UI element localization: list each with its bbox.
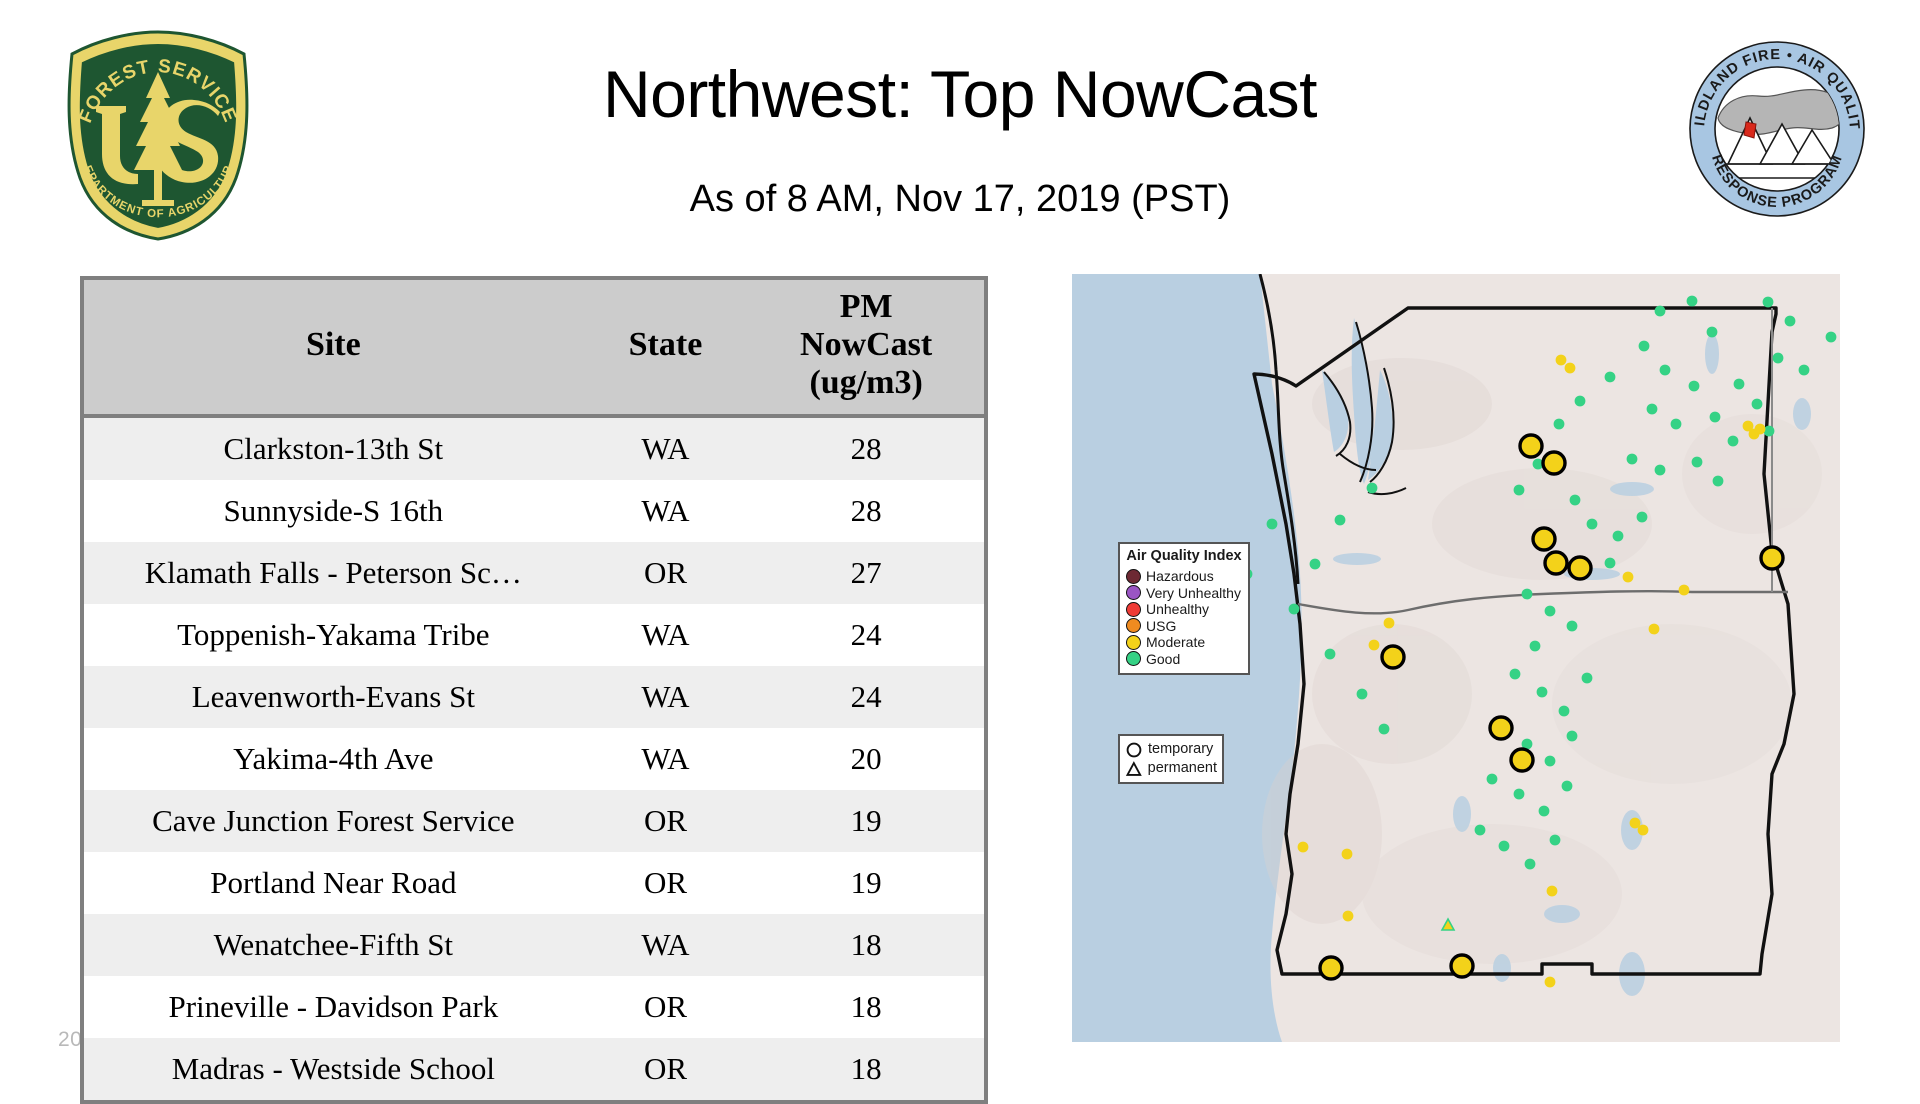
cell-site: Prineville - Davidson Park: [84, 976, 583, 1038]
legend-item-label: USG: [1146, 619, 1176, 633]
monitor-marker-good[interactable]: [1692, 457, 1703, 468]
monitor-marker-good[interactable]: [1587, 519, 1598, 530]
monitor-marker-good[interactable]: [1325, 649, 1336, 660]
monitor-marker-moderate[interactable]: [1755, 424, 1766, 435]
monitor-marker-moderate[interactable]: [1298, 842, 1309, 853]
monitor-marker-good[interactable]: [1728, 436, 1739, 447]
monitor-marker-good[interactable]: [1734, 379, 1745, 390]
cell-pm-nowcast: 27: [748, 542, 984, 604]
cell-site: Klamath Falls - Peterson Sc…: [84, 542, 583, 604]
table-body: Clarkston-13th StWA28Sunnyside-S 16thWA2…: [84, 416, 984, 1100]
monitor-marker-good[interactable]: [1537, 687, 1548, 698]
monitor-marker-moderate[interactable]: [1369, 640, 1380, 651]
column-header-pm-nowcast: PM NowCast (ug/m3): [748, 280, 984, 416]
monitor-marker-top-site[interactable]: [1543, 452, 1565, 474]
cell-site: Toppenish-Yakama Tribe: [84, 604, 583, 666]
cell-pm-nowcast: 18: [748, 976, 984, 1038]
legend-row: Good: [1126, 650, 1242, 667]
monitor-marker-moderate[interactable]: [1649, 624, 1660, 635]
monitor-marker-good[interactable]: [1637, 512, 1648, 523]
monitor-marker-moderate[interactable]: [1342, 849, 1353, 860]
monitor-marker-good[interactable]: [1826, 332, 1837, 343]
legend-type-row-temporary: temporary: [1125, 740, 1217, 759]
monitor-marker-good[interactable]: [1510, 669, 1521, 680]
monitor-marker-good[interactable]: [1310, 559, 1321, 570]
legend-item-label: Very Unhealthy: [1146, 586, 1241, 600]
cell-pm-nowcast: 18: [748, 914, 984, 976]
table-row: Madras - Westside SchoolOR18: [84, 1038, 984, 1100]
permanent-triangle-icon: [1125, 760, 1143, 778]
pm-header-line3: (ug/m3): [809, 364, 922, 401]
cell-pm-nowcast: 19: [748, 852, 984, 914]
nowcast-table: Site State PM NowCast (ug/m3) Clarkston-…: [84, 280, 984, 1100]
table-row: Clarkston-13th StWA28: [84, 416, 984, 480]
monitor-marker-good[interactable]: [1379, 724, 1390, 735]
monitor-marker-good[interactable]: [1335, 515, 1346, 526]
monitor-marker-good[interactable]: [1570, 495, 1581, 506]
cell-state: OR: [583, 790, 749, 852]
monitor-marker-top-site[interactable]: [1490, 717, 1512, 739]
legend-title: Air Quality Index: [1126, 549, 1242, 565]
monitor-marker-good[interactable]: [1357, 689, 1368, 700]
cell-state: WA: [583, 728, 749, 790]
legend-color-swatch: [1126, 569, 1141, 584]
legend-row: Unhealthy: [1126, 601, 1242, 618]
monitor-marker-good[interactable]: [1660, 365, 1671, 376]
monitor-marker-good[interactable]: [1475, 825, 1486, 836]
table-row: Cave Junction Forest ServiceOR19: [84, 790, 984, 852]
monitor-marker-good[interactable]: [1522, 589, 1533, 600]
column-header-site: Site: [84, 280, 583, 416]
monitor-marker-good[interactable]: [1639, 341, 1650, 352]
monitor-marker-good[interactable]: [1655, 465, 1666, 476]
monitor-type-legend: temporary permanent: [1118, 734, 1224, 784]
cell-pm-nowcast: 20: [748, 728, 984, 790]
monitor-marker-good[interactable]: [1687, 296, 1698, 307]
legend-item-label: Hazardous: [1146, 569, 1214, 583]
table-row: Prineville - Davidson ParkOR18: [84, 976, 984, 1038]
monitor-marker-moderate[interactable]: [1565, 363, 1576, 374]
pm-header-line2: NowCast: [800, 326, 932, 363]
legend-color-swatch: [1126, 585, 1141, 600]
table-row: Klamath Falls - Peterson Sc…OR27: [84, 542, 984, 604]
monitor-marker-top-site[interactable]: [1761, 547, 1783, 569]
cell-site: Leavenworth-Evans St: [84, 666, 583, 728]
monitor-marker-good[interactable]: [1707, 327, 1718, 338]
cell-state: WA: [583, 480, 749, 542]
nowcast-table-container: Site State PM NowCast (ug/m3) Clarkston-…: [80, 276, 988, 1104]
cell-pm-nowcast: 19: [748, 790, 984, 852]
table-row: Wenatchee-Fifth StWA18: [84, 914, 984, 976]
cell-site: Yakima-4th Ave: [84, 728, 583, 790]
cell-site: Madras - Westside School: [84, 1038, 583, 1100]
legend-type-row-permanent: permanent: [1125, 759, 1217, 778]
monitor-marker-good[interactable]: [1525, 859, 1536, 870]
monitor-marker-good[interactable]: [1567, 731, 1578, 742]
monitor-marker-good[interactable]: [1627, 454, 1638, 465]
table-row: Leavenworth-Evans StWA24: [84, 666, 984, 728]
monitor-marker-moderate[interactable]: [1556, 355, 1567, 366]
legend-row: Very Unhealthy: [1126, 584, 1242, 601]
monitor-marker-moderate[interactable]: [1638, 825, 1649, 836]
monitor-marker-good[interactable]: [1671, 419, 1682, 430]
monitor-marker-top-site[interactable]: [1569, 557, 1591, 579]
monitor-marker-good[interactable]: [1605, 372, 1616, 383]
legend-type-label-temporary: temporary: [1148, 742, 1213, 757]
table-row: Sunnyside-S 16thWA28: [84, 480, 984, 542]
monitor-marker-good[interactable]: [1689, 381, 1700, 392]
monitor-marker-good[interactable]: [1613, 531, 1624, 542]
monitor-marker-top-site[interactable]: [1511, 749, 1533, 771]
monitor-marker-good[interactable]: [1647, 404, 1658, 415]
monitor-marker-good[interactable]: [1559, 706, 1570, 717]
legend-color-swatch: [1126, 602, 1141, 617]
legend-row: Hazardous: [1126, 568, 1242, 585]
table-row: Yakima-4th AveWA20: [84, 728, 984, 790]
monitor-marker-good[interactable]: [1799, 365, 1810, 376]
legend-color-swatch: [1126, 651, 1141, 666]
table-header: Site State PM NowCast (ug/m3): [84, 280, 984, 416]
legend-row: Moderate: [1126, 634, 1242, 651]
monitor-marker-good[interactable]: [1763, 297, 1774, 308]
legend-rows: HazardousVery UnhealthyUnhealthyUSGModer…: [1126, 568, 1242, 667]
monitor-marker-good[interactable]: [1367, 483, 1378, 494]
cell-pm-nowcast: 24: [748, 604, 984, 666]
monitor-marker-top-site[interactable]: [1320, 957, 1342, 979]
monitor-marker-good[interactable]: [1545, 756, 1556, 767]
page-title: Northwest: Top NowCast: [0, 60, 1920, 129]
legend-color-swatch: [1126, 635, 1141, 650]
cell-state: WA: [583, 914, 749, 976]
cell-state: OR: [583, 542, 749, 604]
monitor-marker-top-site[interactable]: [1545, 552, 1567, 574]
monitor-marker-good[interactable]: [1713, 476, 1724, 487]
cell-pm-nowcast: 24: [748, 666, 984, 728]
monitor-marker-good[interactable]: [1710, 412, 1721, 423]
monitor-marker-moderate[interactable]: [1679, 585, 1690, 596]
cell-state: WA: [583, 666, 749, 728]
monitor-marker-moderate[interactable]: [1623, 572, 1634, 583]
cell-state: OR: [583, 1038, 749, 1100]
monitor-marker-good[interactable]: [1582, 673, 1593, 684]
monitor-marker-good[interactable]: [1655, 306, 1666, 317]
monitor-marker-good[interactable]: [1562, 781, 1573, 792]
monitor-marker-good[interactable]: [1785, 316, 1796, 327]
legend-color-swatch: [1126, 618, 1141, 633]
monitor-marker-good[interactable]: [1514, 485, 1525, 496]
monitor-marker-good[interactable]: [1575, 396, 1586, 407]
monitor-marker-top-site[interactable]: [1382, 646, 1404, 668]
monitor-marker-good[interactable]: [1530, 641, 1541, 652]
cell-state: WA: [583, 604, 749, 666]
monitor-marker-moderate[interactable]: [1547, 886, 1558, 897]
cell-site: Clarkston-13th St: [84, 416, 583, 480]
legend-item-label: Moderate: [1146, 635, 1205, 649]
cell-state: WA: [583, 416, 749, 480]
monitor-marker-good[interactable]: [1550, 835, 1561, 846]
temporary-circle-icon: [1125, 741, 1143, 759]
cell-pm-nowcast: 18: [748, 1038, 984, 1100]
cell-site: Wenatchee-Fifth St: [84, 914, 583, 976]
pm-header-line1: PM: [840, 288, 893, 325]
monitor-marker-top-site[interactable]: [1451, 955, 1473, 977]
cell-site: Sunnyside-S 16th: [84, 480, 583, 542]
monitor-marker-moderate[interactable]: [1384, 618, 1395, 629]
table-row: Portland Near RoadOR19: [84, 852, 984, 914]
column-header-state: State: [583, 280, 749, 416]
monitor-marker-moderate[interactable]: [1343, 911, 1354, 922]
cell-site: Portland Near Road: [84, 852, 583, 914]
monitor-marker-good[interactable]: [1487, 774, 1498, 785]
monitor-marker-good[interactable]: [1567, 621, 1578, 632]
monitor-marker-good[interactable]: [1499, 841, 1510, 852]
legend-item-label: Unhealthy: [1146, 602, 1209, 616]
monitor-marker-moderate[interactable]: [1545, 977, 1556, 988]
cell-pm-nowcast: 28: [748, 480, 984, 542]
monitor-marker-top-site[interactable]: [1520, 435, 1542, 457]
monitor-marker-good[interactable]: [1773, 353, 1784, 364]
monitor-marker-top-site[interactable]: [1533, 528, 1555, 550]
monitor-marker-good[interactable]: [1289, 604, 1300, 615]
page-subtitle: As of 8 AM, Nov 17, 2019 (PST): [0, 178, 1920, 221]
monitor-marker-good[interactable]: [1605, 558, 1616, 569]
monitor-marker-good[interactable]: [1554, 419, 1565, 430]
air-quality-index-legend: Air Quality Index HazardousVery Unhealth…: [1118, 542, 1250, 675]
monitor-marker-good[interactable]: [1752, 399, 1763, 410]
monitor-marker-good[interactable]: [1764, 426, 1775, 437]
legend-row: USG: [1126, 617, 1242, 634]
cell-state: OR: [583, 976, 749, 1038]
monitor-marker-good[interactable]: [1514, 789, 1525, 800]
monitor-marker-good[interactable]: [1267, 519, 1278, 530]
cell-pm-nowcast: 28: [748, 416, 984, 480]
legend-type-label-permanent: permanent: [1148, 761, 1217, 776]
table-row: Toppenish-Yakama TribeWA24: [84, 604, 984, 666]
legend-item-label: Good: [1146, 652, 1180, 666]
monitor-marker-good[interactable]: [1545, 606, 1556, 617]
cell-state: OR: [583, 852, 749, 914]
cell-site: Cave Junction Forest Service: [84, 790, 583, 852]
monitor-marker-good[interactable]: [1539, 806, 1550, 817]
